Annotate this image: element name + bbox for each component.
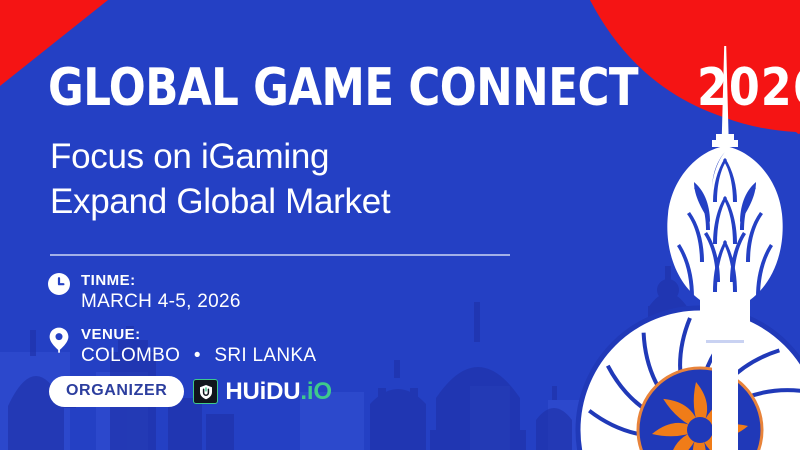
huidu-brand-main: HUiDU — [225, 378, 300, 405]
organizer-row: ORGANIZER HUiDU.iO — [49, 376, 332, 407]
location-pin-icon — [48, 327, 70, 358]
event-venue-row: VENUE: COLOMBO • SRI LANKA — [48, 326, 316, 369]
divider — [50, 254, 510, 256]
venue-separator: • — [186, 344, 209, 369]
huidu-brand-name: HUiDU.iO — [225, 380, 331, 404]
title-year-text: 2026 — [697, 62, 800, 114]
huidu-logo-lockup[interactable]: HUiDU.iO — [193, 379, 331, 404]
time-label: TINME: — [81, 272, 136, 289]
subtitle-line-1: Focus on iGaming — [50, 135, 390, 180]
organizer-pill-label: ORGANIZER — [49, 376, 184, 407]
subtitle-line-2: Expand Global Market — [50, 180, 390, 225]
huidu-brand-suffix: .iO — [300, 378, 331, 405]
event-time-row: TINME: MARCH 4-5, 2026 — [48, 272, 241, 315]
venue-label: VENUE: — [81, 326, 141, 343]
time-value: MARCH 4-5, 2026 — [81, 291, 241, 312]
huidu-shield-icon — [193, 379, 218, 404]
venue-value: COLOMBO • SRI LANKA — [81, 345, 316, 366]
title-main-text: GLOBAL GAME CONNECT — [48, 62, 638, 114]
venue-country: SRI LANKA — [214, 345, 316, 366]
page-title: GLOBAL GAME CONNECT 2026 — [48, 62, 800, 114]
clock-icon — [48, 273, 70, 300]
subtitle: Focus on iGaming Expand Global Market — [50, 135, 390, 225]
event-banner: GLOBAL GAME CONNECT 2026 Focus on iGamin… — [0, 0, 800, 450]
venue-city: COLOMBO — [81, 345, 180, 366]
